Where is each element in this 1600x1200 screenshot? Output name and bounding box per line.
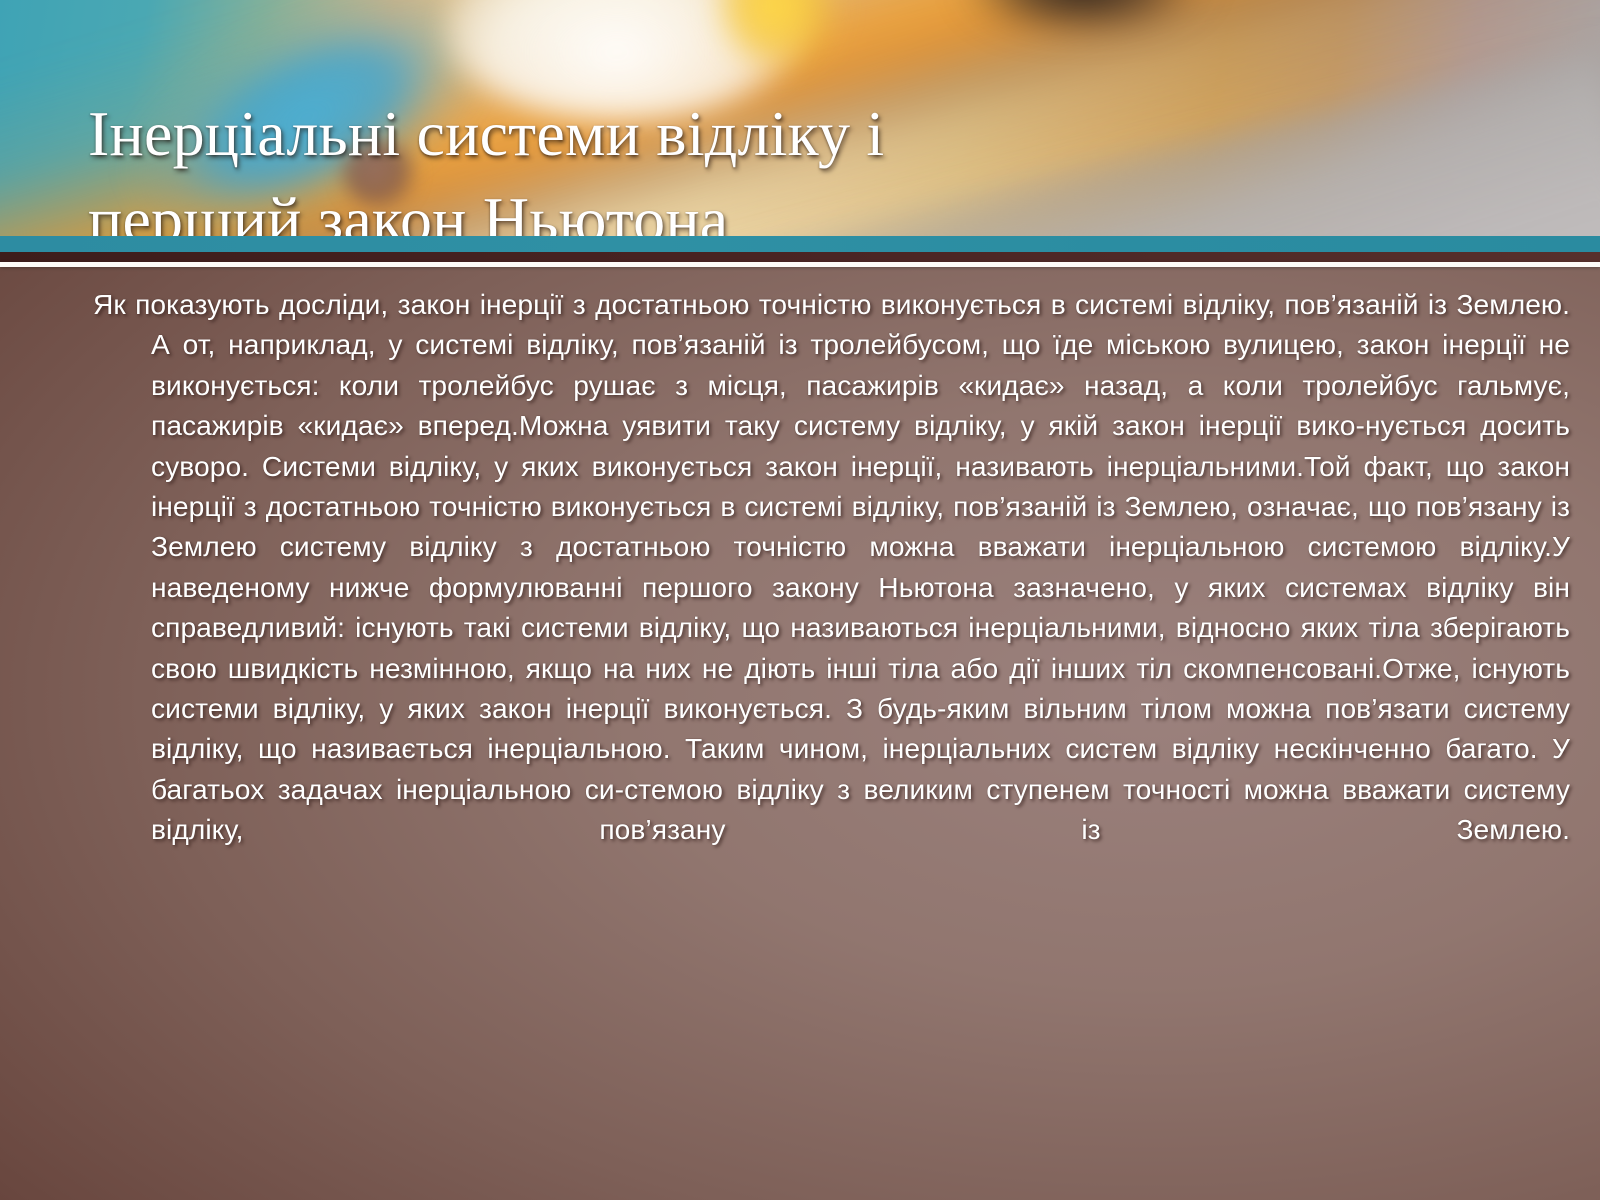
slide-body-text: Як показують досліди, закон інерції з до… [93,284,1570,890]
presentation-slide: Інерціальні системи відліку і перший зак… [0,0,1600,1200]
white-divider-line [0,262,1600,267]
photo-dark-object [960,0,1216,35]
teal-accent-bar [0,236,1600,252]
photo-yellow-pencil [696,0,856,88]
